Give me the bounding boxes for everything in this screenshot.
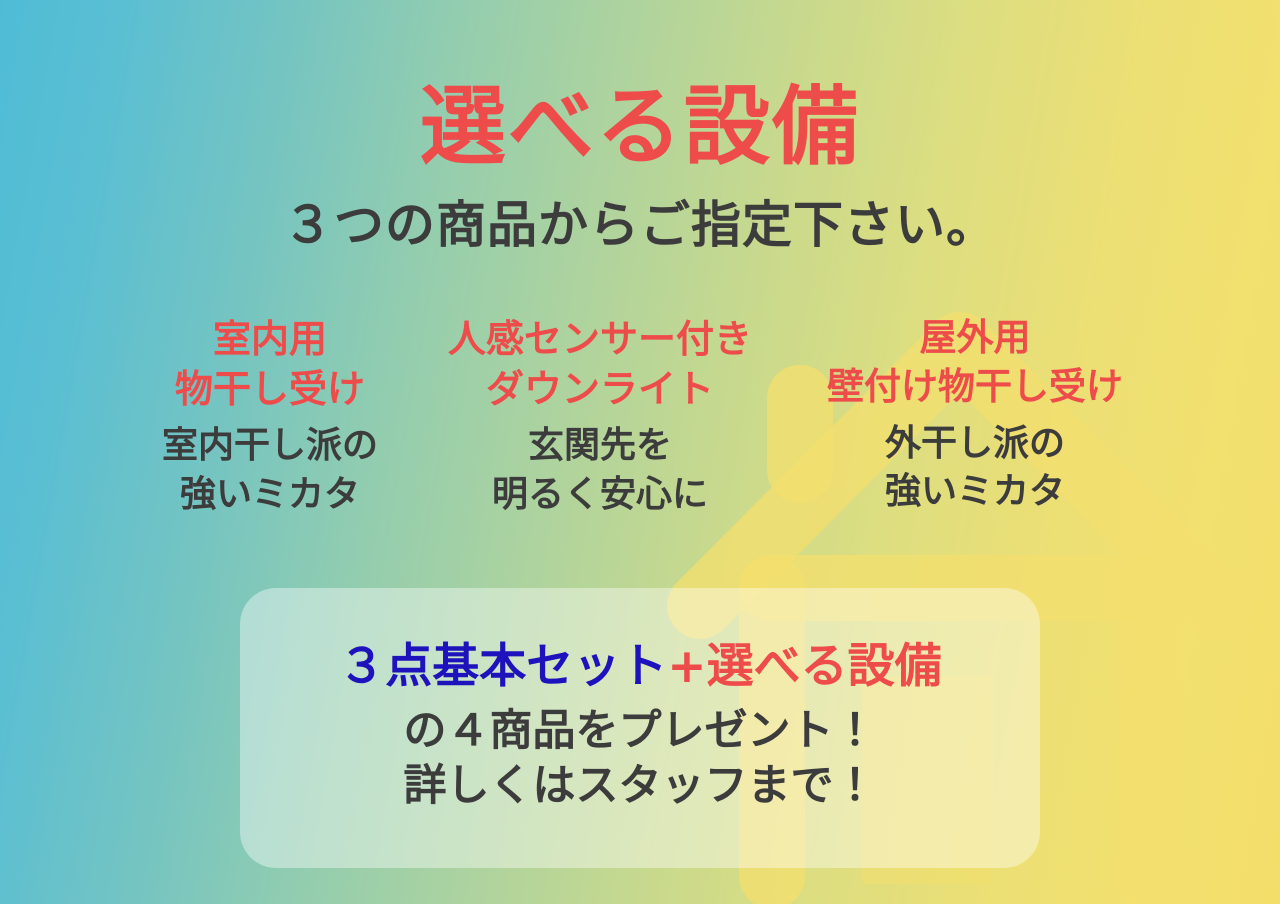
offer-panel: ３点基本セット+選べる設備 の４商品をプレゼント！ 詳しくはスタッフまで！ [240,588,1040,868]
options-row: 室内用 物干し受け 室内干し派の 強いミカタ 人感センサー付き ダウンライト 玄… [120,314,1170,519]
promo-poster: 選べる設備 ３つの商品からご指定下さい。 室内用 物干し受け 室内干し派の 強い… [0,0,1280,904]
offer-selectable-equipment-label: 選べる設備 [707,639,942,694]
option-description: 玄関先を 明るく安心に [420,422,780,518]
option-title: 屋外用 壁付け物干し受け [780,314,1170,412]
page-subtitle: ３つの商品からご指定下さい。 [0,200,1280,250]
option-description: 室内干し派の 強いミカタ [120,422,420,518]
option-title: 人感センサー付き ダウンライト [420,314,780,414]
offer-plus-sign: + [667,639,706,694]
option-description: 外干し派の 強いミカタ [780,420,1170,516]
option-card-downlight[interactable]: 人感センサー付き ダウンライト 玄関先を 明るく安心に [420,314,780,519]
page-title: 選べる設備 [0,84,1280,170]
offer-headline: ３点基本セット+選べる設備 [338,642,941,693]
offer-detail-line-1: の４商品をプレゼント！ [404,704,877,759]
option-title: 室内用 物干し受け [120,314,420,414]
offer-detail-line-2: 詳しくはスタッフまで！ [404,759,877,814]
option-card-indoor[interactable]: 室内用 物干し受け 室内干し派の 強いミカタ [120,314,420,519]
offer-base-set-label: ３点基本セット [338,639,667,694]
option-card-outdoor[interactable]: 屋外用 壁付け物干し受け 外干し派の 強いミカタ [780,314,1170,516]
